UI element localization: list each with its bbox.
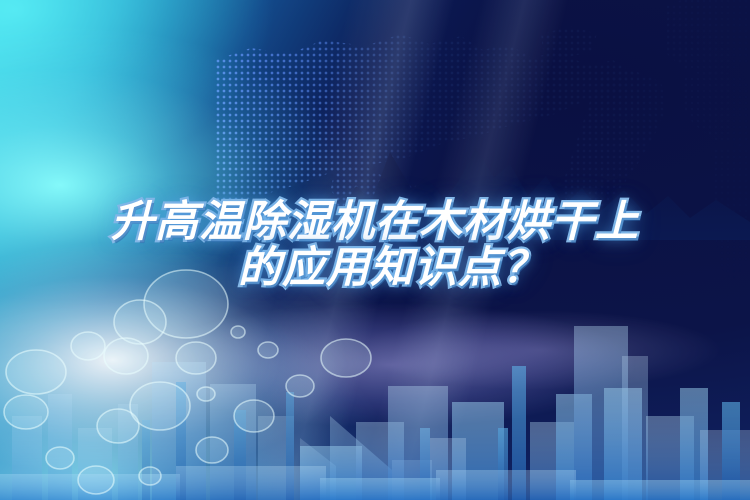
light-bubbles xyxy=(0,260,470,500)
banner-image: 升高温除湿机在木材烘干上 的应用知识点？ xyxy=(0,0,750,500)
